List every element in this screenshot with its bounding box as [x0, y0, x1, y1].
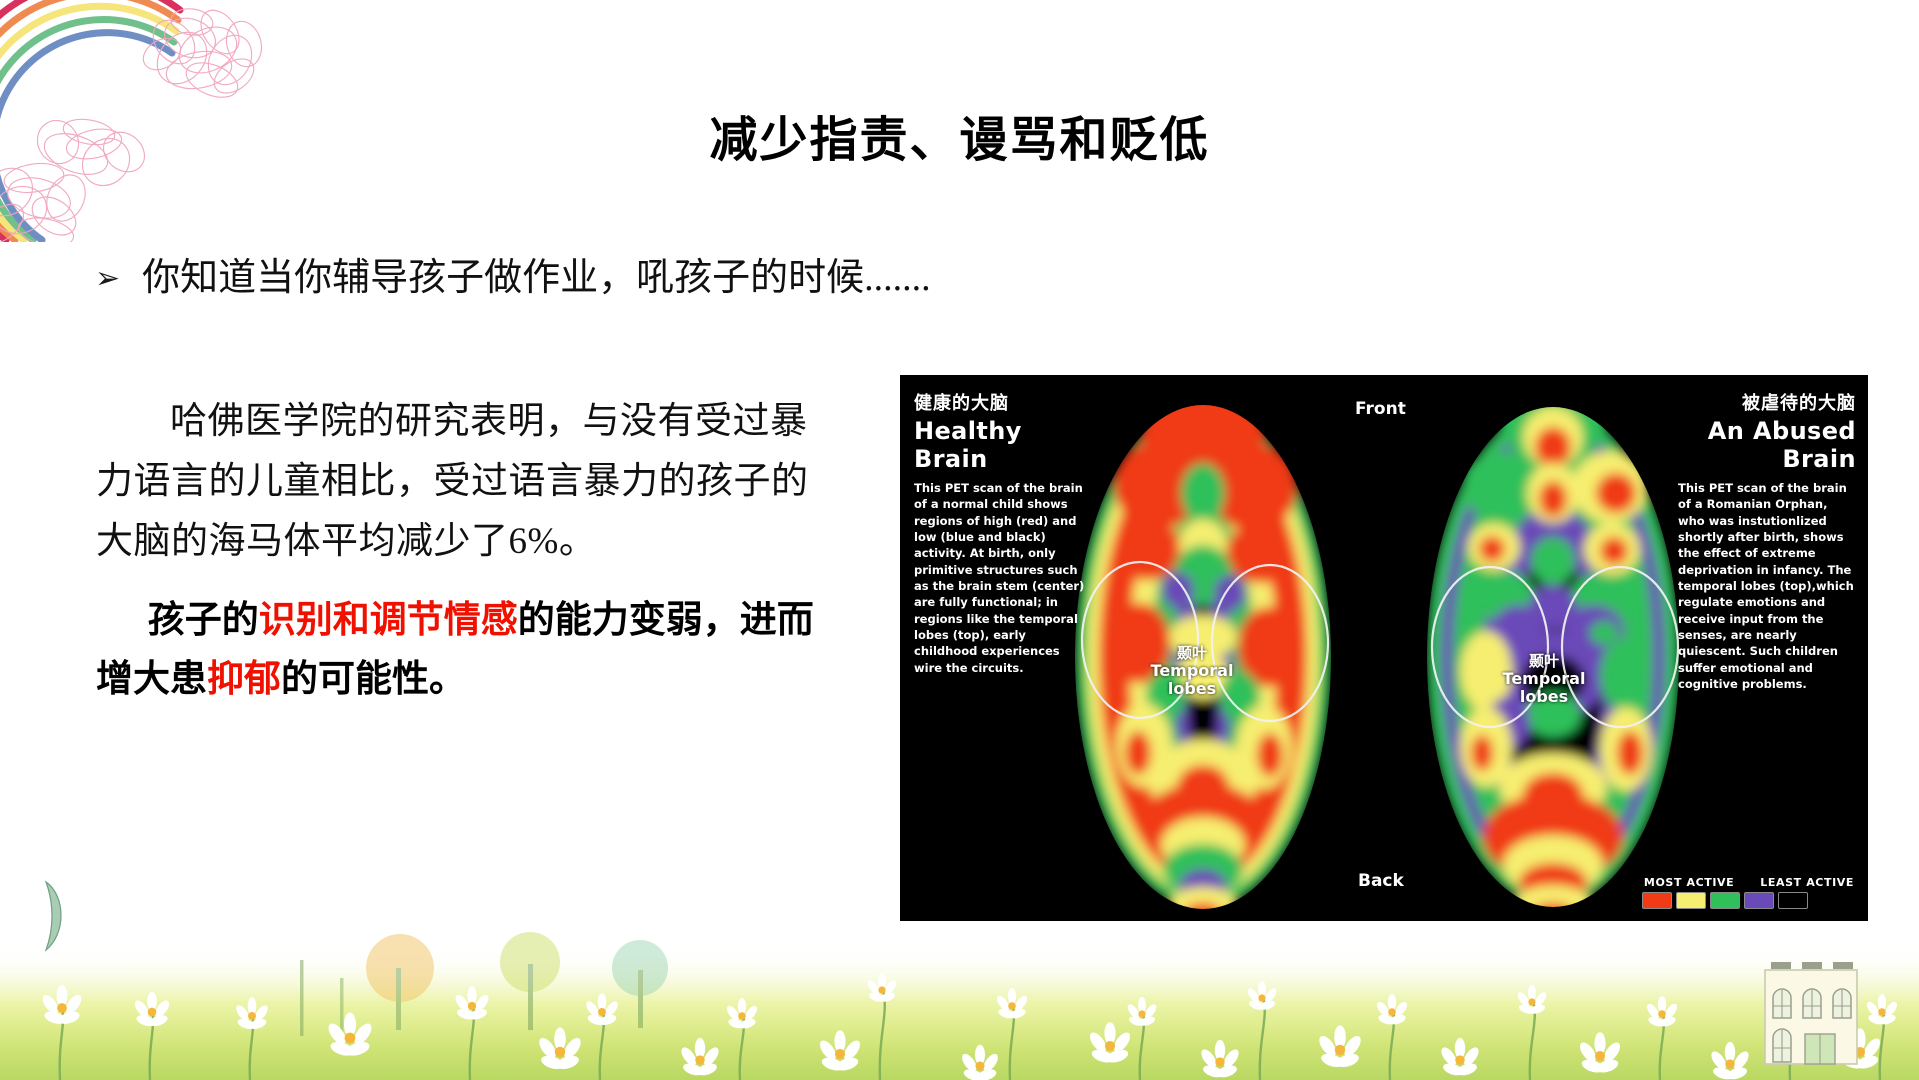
healthy-callout-cn: 颞叶 — [1132, 645, 1252, 662]
healthy-brain-panel-text: 健康的大脑 Healthy Brain This PET scan of the… — [914, 389, 1086, 676]
abused-brain-title-en: An Abused Brain — [1678, 417, 1856, 473]
conclusion-seg-1: 孩子的 — [148, 598, 259, 641]
abused-brain-scan — [1398, 375, 1708, 921]
legend-swatch-black — [1778, 892, 1808, 909]
abused-temporal-lobes-callout: 颞叶 Temporal lobes — [1484, 653, 1604, 706]
house-icon — [1757, 954, 1867, 1072]
abused-callout-en: Temporal lobes — [1484, 670, 1604, 706]
body-column: 哈佛医学院的研究表明，与没有受过暴力语言的儿童相比，受过语言暴力的孩子的大脑的海… — [96, 392, 826, 708]
slide-title: 减少指责、谩骂和贬低 — [0, 100, 1919, 170]
conclusion-highlight-emotion: 识别和调节情感 — [259, 598, 518, 641]
leaf-decoration — [40, 876, 80, 956]
research-paragraph: 哈佛医学院的研究表明，与没有受过暴力语言的儿童相比，受过语言暴力的孩子的大脑的海… — [96, 392, 826, 572]
legend-most-active-label: MOST ACTIVE — [1644, 876, 1734, 889]
healthy-callout-en: Temporal lobes — [1132, 662, 1252, 698]
pet-brain-comparison-image: 健康的大脑 Healthy Brain This PET scan of the… — [900, 375, 1868, 921]
healthy-brain-title-cn: 健康的大脑 — [914, 389, 1086, 415]
healthy-brain-title-en: Healthy Brain — [914, 417, 1086, 473]
legend-swatches — [1642, 892, 1854, 909]
back-orientation-label: Back — [1358, 871, 1404, 891]
legend-swatch-red — [1642, 892, 1672, 909]
legend-least-active-label: LEAST ACTIVE — [1760, 876, 1854, 889]
conclusion-highlight-depression: 抑郁 — [207, 657, 281, 700]
bullet-row: ➢ 你知道当你辅导孩子做作业，吼孩子的时候....... — [95, 256, 1195, 302]
conclusion-paragraph: 孩子的识别和调节情感的能力变弱，进而增大患抑郁的可能性。 — [96, 590, 826, 708]
abused-brain-panel-text: 被虐待的大脑 An Abused Brain This PET scan of … — [1678, 389, 1856, 692]
healthy-brain-description: This PET scan of the brain of a normal c… — [914, 480, 1086, 676]
legend-swatch-yellow — [1676, 892, 1706, 909]
bottom-floral-border — [0, 920, 1919, 1080]
abused-brain-title-cn: 被虐待的大脑 — [1678, 389, 1856, 415]
bullet-text: 你知道当你辅导孩子做作业，吼孩子的时候....... — [142, 256, 931, 302]
legend-swatch-green — [1710, 892, 1740, 909]
legend-labels: MOST ACTIVE LEAST ACTIVE — [1642, 876, 1854, 889]
front-orientation-label: Front — [1355, 399, 1406, 419]
healthy-temporal-lobes-callout: 颞叶 Temporal lobes — [1132, 645, 1252, 698]
abused-brain-description: This PET scan of the brain of a Romanian… — [1678, 480, 1856, 692]
activity-legend: MOST ACTIVE LEAST ACTIVE — [1642, 876, 1854, 909]
abused-callout-cn: 颞叶 — [1484, 653, 1604, 670]
legend-swatch-purple — [1744, 892, 1774, 909]
conclusion-seg-5: 的可能性。 — [281, 657, 466, 700]
bullet-arrow-icon: ➢ — [95, 264, 120, 294]
